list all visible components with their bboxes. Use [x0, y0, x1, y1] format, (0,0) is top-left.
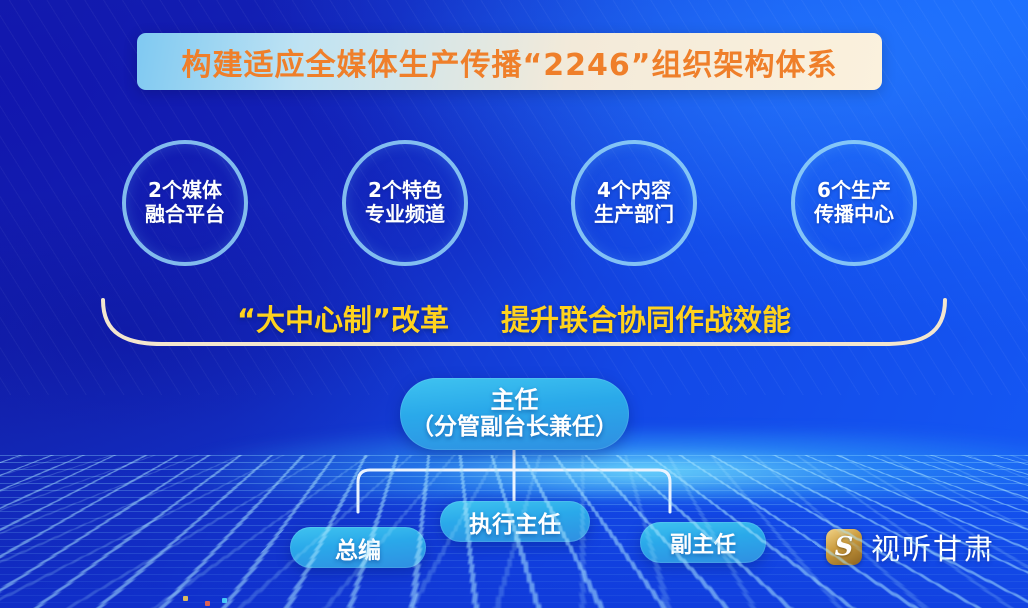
org-node-director-line1: 主任	[491, 387, 539, 414]
circle-node-4[interactable]: 6个生产 传播中心	[791, 140, 917, 266]
circle-node-1[interactable]: 2个媒体 融合平台	[122, 140, 248, 266]
slide-canvas: 构建适应全媒体生产传播“2246”组织架构体系 2个媒体 融合平台 2个特色 专…	[0, 0, 1028, 608]
org-node-director[interactable]: 主任 （分管副台长兼任）	[400, 378, 629, 450]
org-node-chief-editor[interactable]: 总编	[290, 527, 426, 568]
circle-node-4-line1: 6个生产	[817, 179, 891, 203]
circle-node-3[interactable]: 4个内容 生产部门	[571, 140, 697, 266]
confetti-speck	[205, 601, 210, 606]
org-node-executive-director[interactable]: 执行主任	[440, 501, 590, 542]
shixing-gansu-logo-icon	[826, 529, 862, 565]
circle-node-2-line1: 2个特色	[368, 179, 442, 203]
circle-node-3-line2: 生产部门	[594, 203, 674, 227]
confetti-speck	[222, 598, 227, 603]
circle-node-1-line2: 融合平台	[145, 203, 225, 227]
circle-node-3-line1: 4个内容	[597, 179, 671, 203]
watermark: 视听甘肃	[826, 526, 995, 568]
circle-node-4-line2: 传播中心	[814, 203, 894, 227]
slogan-left: “大中心制”改革	[237, 297, 449, 339]
org-node-director-line2: （分管副台长兼任）	[411, 414, 618, 441]
org-node-executive-director-label: 执行主任	[469, 505, 561, 539]
page-title: 构建适应全媒体生产传播“2246”组织架构体系	[182, 40, 838, 84]
circle-node-1-line1: 2个媒体	[148, 179, 222, 203]
watermark-text: 视听甘肃	[871, 526, 995, 568]
org-node-deputy-director-label: 副主任	[670, 527, 736, 559]
title-banner: 构建适应全媒体生产传播“2246”组织架构体系	[137, 33, 882, 90]
circle-node-2-line2: 专业频道	[365, 203, 445, 227]
org-node-chief-editor-label: 总编	[335, 531, 381, 565]
circle-node-2[interactable]: 2个特色 专业频道	[342, 140, 468, 266]
confetti-speck	[183, 596, 188, 601]
org-node-deputy-director[interactable]: 副主任	[640, 522, 766, 563]
slogan-row: “大中心制”改革 提升联合协同作战效能	[0, 296, 1028, 340]
slogan-right: 提升联合协同作战效能	[501, 297, 791, 339]
